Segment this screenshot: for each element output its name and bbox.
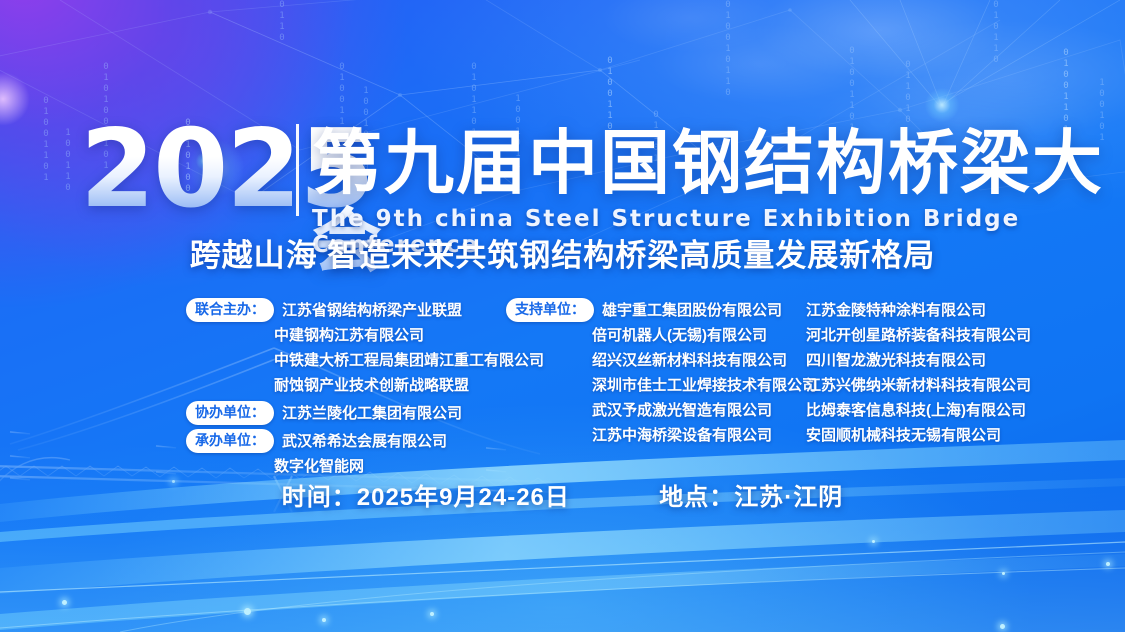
co-organizer-row: 协办单位： 江苏兰陵化工集团有限公司 [186, 401, 506, 426]
undertaker-label: 承办单位： [186, 429, 274, 453]
headline-block: 2025 第九届中国钢结构桥梁大会 The 9th china Steel St… [0, 118, 1125, 226]
supporter-entity: 雄宇重工集团股份有限公司 [602, 298, 782, 323]
supporter-entity: 河北开创星路桥装备科技有限公司 [806, 323, 1106, 348]
co-host-row: 联合主办： 江苏省钢结构桥梁产业联盟 [186, 298, 506, 323]
sparkle-dot [244, 608, 251, 615]
conference-slogan: 跨越山海 智造未来共筑钢结构桥梁高质量发展新格局 [0, 238, 1125, 274]
supporter-entity: 安固顺机械科技无锡有限公司 [806, 423, 1106, 448]
sparkle-dot [872, 540, 875, 543]
binary-code-column: 0110 [276, 0, 287, 44]
co-organizer-label: 协办单位： [186, 401, 274, 425]
event-time: 时间：2025年9月24-26日 [282, 484, 570, 511]
supporter-row: 支持单位： 雄宇重工集团股份有限公司 [506, 298, 806, 323]
organizer-column-left: 联合主办： 江苏省钢结构桥梁产业联盟 中建钢构江苏有限公司 中铁建大桥工程局集团… [186, 298, 506, 479]
supporter-entity: 绍兴汉丝新材料科技有限公司 [506, 348, 806, 373]
sparkle-dot [1000, 624, 1005, 629]
event-place: 地点：江苏·江阴 [659, 484, 843, 511]
binary-code-column: 010010110 [722, 0, 733, 99]
co-host-entity: 中建钢构江苏有限公司 [186, 323, 506, 348]
organizer-column-right: 江苏金陵特种涂料有限公司 河北开创星路桥装备科技有限公司 四川智龙激光科技有限公… [806, 298, 1106, 448]
co-host-entity: 中铁建大桥工程局集团靖江重工有限公司 [186, 348, 506, 373]
title-divider [296, 124, 299, 216]
supporter-entity: 比姆泰客信息科技(上海)有限公司 [806, 398, 1106, 423]
binary-code-column: 010110 [990, 0, 1001, 66]
binary-code-column: 011010 [902, 60, 913, 126]
supporter-entity: 倍可机器人(无锡)有限公司 [506, 323, 806, 348]
co-host-entity: 江苏省钢结构桥梁产业联盟 [282, 298, 462, 323]
sparkle-dot [1002, 572, 1005, 575]
supporter-entity: 江苏兴佛纳米新材料科技有限公司 [806, 373, 1106, 398]
supporter-entity: 四川智龙激光科技有限公司 [806, 348, 1106, 373]
sparkle-dot [322, 618, 326, 622]
organizer-column-middle: 支持单位： 雄宇重工集团股份有限公司 倍可机器人(无锡)有限公司 绍兴汉丝新材料… [506, 298, 806, 448]
supporter-entity: 江苏中海桥梁设备有限公司 [506, 423, 806, 448]
co-host-entity: 耐蚀钢产业技术创新战略联盟 [186, 373, 506, 398]
sparkle-dot [62, 600, 67, 605]
supporter-entity: 江苏金陵特种涂料有限公司 [806, 298, 1106, 323]
glow-accent-right [925, 88, 959, 122]
supporter-entity: 深圳市佳士工业焊接技术有限公司 [506, 373, 806, 398]
co-host-label: 联合主办： [186, 298, 274, 322]
conference-banner: 01001101 0101001101 100110 0110100 01001… [0, 0, 1125, 632]
sparkle-dot [430, 612, 434, 616]
sparkle-dot [1106, 562, 1110, 566]
undertaker-entity: 数字化智能网 [186, 454, 506, 479]
undertaker-row: 承办单位： 武汉希希达会展有限公司 [186, 429, 506, 454]
event-meta-row: 时间：2025年9月24-26日 地点：江苏·江阴 [0, 482, 1125, 514]
horizon-glow [0, 442, 1125, 632]
organizers-block: 联合主办： 江苏省钢结构桥梁产业联盟 中建钢构江苏有限公司 中铁建大桥工程局集团… [0, 298, 1125, 448]
co-organizer-entity: 江苏兰陵化工集团有限公司 [282, 401, 462, 426]
supporter-label: 支持单位： [506, 298, 594, 322]
undertaker-entity: 武汉希希达会展有限公司 [282, 429, 447, 454]
supporter-entity: 武汉予成激光智造有限公司 [506, 398, 806, 423]
